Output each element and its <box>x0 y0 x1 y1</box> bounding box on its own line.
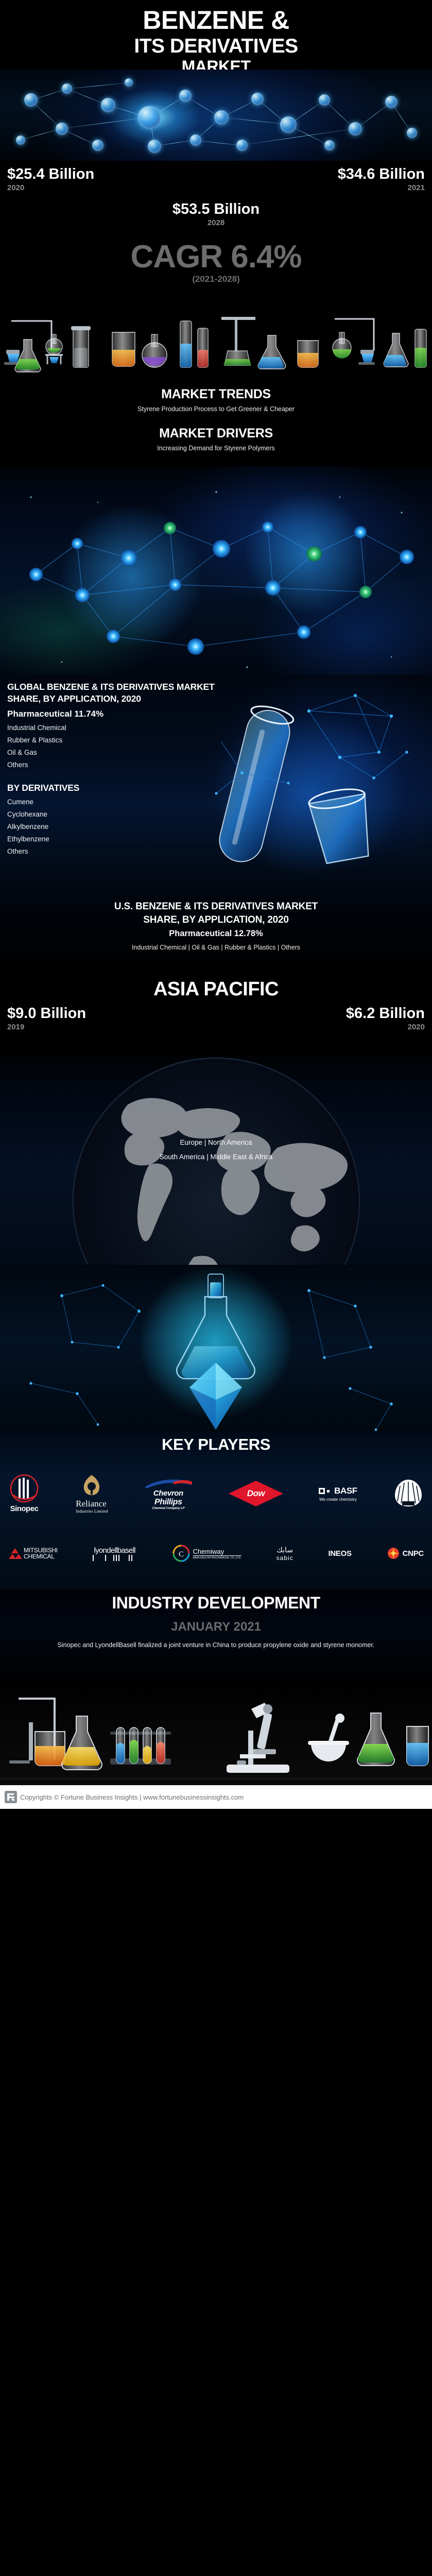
logo-basf-label: BASF <box>334 1486 357 1496</box>
logo-dow[interactable]: Dow <box>229 1481 283 1506</box>
molecule-atom <box>56 123 68 135</box>
lab-glassware-illustration <box>0 296 432 386</box>
title-line-1: BENZENE & <box>0 0 432 33</box>
industry-development-heading: INDUSTRY DEVELOPMENT <box>0 1589 432 1613</box>
molecule-atom <box>280 116 297 133</box>
global-app-2: Oil & Gas <box>7 749 229 756</box>
chemiway-mark-icon: C <box>172 1544 191 1563</box>
dow-diamond-icon: Dow <box>229 1481 283 1506</box>
title-line-3: MARKET <box>0 56 432 70</box>
logo-chemiway-sub: MARUZEN PETROCHEMICAL CO.,LTD. <box>193 1555 241 1560</box>
molecule-atom <box>148 140 161 153</box>
trends-and-drivers-section: MARKET TRENDS Styrene Production Process… <box>0 384 432 471</box>
stat-2021-year: 2021 <box>338 183 425 192</box>
cagr-period: (2021-2028) <box>0 274 432 284</box>
chevron-swoosh-icon <box>144 1478 193 1489</box>
svg-text:C: C <box>179 1550 184 1558</box>
stat-2028-value: $53.5 Billion <box>0 201 432 218</box>
market-drivers-text: Increasing Demand for Styrene Polymers <box>0 445 432 452</box>
cagr-headline: CAGR 6.4% <box>0 241 432 273</box>
molecule-atom <box>125 78 133 87</box>
derivative-3: Ethylbenzene <box>7 835 229 843</box>
hero-molecule-image <box>0 68 432 161</box>
molecule-atom <box>407 128 417 138</box>
molecule-atom <box>214 110 229 125</box>
logo-sabic[interactable]: سابك sabic <box>277 1546 293 1562</box>
stat-2020-year: 2020 <box>7 183 94 192</box>
logo-sinopec[interactable]: Sinopec <box>8 1475 40 1513</box>
molecule-atom <box>179 90 192 102</box>
stat-2021-value: $34.6 Billion <box>338 166 425 183</box>
logo-sinopec-label: Sinopec <box>10 1504 39 1513</box>
logo-cnpc[interactable]: CNPC <box>387 1547 424 1560</box>
molecule-atom <box>138 106 161 129</box>
derivative-2: Alkylbenzene <box>7 823 229 831</box>
logo-mitsubishi-name2: CHEMICAL <box>24 1553 58 1560</box>
shell-pecten-icon <box>393 1479 424 1509</box>
industry-development-description: Sinopec and LyondellBasell finalized a j… <box>0 1640 432 1650</box>
logo-shell[interactable] <box>393 1479 424 1509</box>
logo-chevron-sub: Chemical Company LP <box>152 1507 184 1510</box>
basf-squares-icon <box>319 1487 332 1495</box>
molecule-atom <box>24 93 38 107</box>
logo-basf-sub: We create chemistry <box>319 1497 357 1502</box>
molecule-illustration <box>0 68 432 161</box>
lab-footer-svg <box>0 1682 432 1788</box>
infographic-page: BENZENE & ITS DERIVATIVES MARKET $25.4 B… <box>0 0 432 2576</box>
industry-development-date: JANUARY 2021 <box>0 1620 432 1634</box>
global-share-title-line1: GLOBAL BENZENE & ITS DERIVATIVES MARKET <box>7 681 229 693</box>
global-share-title-line2: SHARE, BY APPLICATION, 2020 <box>7 693 229 705</box>
market-trends-heading: MARKET TRENDS <box>0 384 432 402</box>
apac-stat-2019: $9.0 Billion 2019 <box>7 1005 86 1031</box>
network-svg <box>0 466 432 677</box>
reliance-mark-icon <box>80 1474 103 1499</box>
logo-chevron-phillips[interactable]: Chevron Phillips Chemical Company LP <box>144 1478 193 1510</box>
regions-line-2: South America | Middle East & Africa <box>0 1153 432 1161</box>
molecule-atom <box>190 134 201 146</box>
global-app-1: Rubber & Plastics <box>7 736 229 744</box>
by-derivatives-heading: BY DERIVATIVES <box>7 782 229 794</box>
molecule-bond <box>242 128 355 145</box>
global-market-share-section: GLOBAL BENZENE & ITS DERIVATIVES MARKET … <box>0 675 432 891</box>
key-players-heading: KEY PLAYERS <box>0 1432 432 1454</box>
stat-2028: $53.5 Billion 2028 <box>0 201 432 227</box>
apac-2019-value: $9.0 Billion <box>7 1005 86 1022</box>
molecule-atom <box>101 98 115 112</box>
logo-cnpc-label: CNPC <box>403 1549 424 1558</box>
mitsubishi-diamonds-icon <box>8 1547 22 1560</box>
globe-graphic <box>72 1057 360 1267</box>
logo-lyondellbasell-label: lyondellbasell <box>94 1546 135 1555</box>
global-share-text-block: GLOBAL BENZENE & ITS DERIVATIVES MARKET … <box>7 681 229 855</box>
stat-2020-value: $25.4 Billion <box>7 166 94 183</box>
logo-reliance-name: Reliance <box>76 1499 106 1509</box>
apac-2019-year: 2019 <box>7 1023 86 1031</box>
stat-2028-year: 2028 <box>0 218 432 227</box>
molecule-atom <box>236 140 248 151</box>
logo-phillips-name: Phillips <box>154 1498 182 1507</box>
logo-basf[interactable]: BASF We create chemistry <box>319 1486 357 1502</box>
molecular-network-banner <box>0 466 432 677</box>
us-share-applications: Industrial Chemical | Oil & Gas | Rubber… <box>0 944 432 951</box>
molecule-bond <box>62 117 149 129</box>
derivative-4: Others <box>7 848 229 855</box>
logo-lyondellbasell[interactable]: lyondellbasell <box>93 1546 137 1561</box>
molecule-atom <box>62 83 72 94</box>
molecule-bond <box>67 82 129 89</box>
logo-ineos-label: INEOS <box>329 1549 352 1558</box>
us-share-lead: Pharmaceutical 12.78% <box>0 929 432 939</box>
logo-sabic-label: sabic <box>277 1554 293 1562</box>
key-players-row-1: Sinopec Reliance Industries Limited <box>0 1471 432 1516</box>
us-share-title-line2: SHARE, BY APPLICATION, 2020 <box>0 913 432 927</box>
footer-copyright-text: Copyrights © Fortune Business Insights |… <box>20 1793 244 1801</box>
logo-reliance[interactable]: Reliance Industries Limited <box>76 1474 108 1514</box>
crystal-flask-illustration <box>0 1265 432 1435</box>
market-trends-text: Styrene Production Process to Get Greene… <box>0 405 432 413</box>
fbi-mark-icon <box>5 1791 17 1803</box>
molecule-atom <box>251 93 264 105</box>
globe-section: Europe | North America South America | M… <box>0 1046 432 1267</box>
key-players-row-2: MITSUBISHI CHEMICAL lyondellbasell <box>0 1536 432 1570</box>
industry-development-section: INDUSTRY DEVELOPMENT JANUARY 2021 Sinope… <box>0 1589 432 1685</box>
molecule-atom <box>319 94 330 106</box>
logo-sabic-arabic: سابك <box>277 1546 293 1554</box>
logo-mitsubishi-chemical[interactable]: MITSUBISHI CHEMICAL <box>8 1547 58 1560</box>
regions-line-1: Europe | North America <box>0 1139 432 1146</box>
market-drivers-heading: MARKET DRIVERS <box>0 413 432 441</box>
lab-footer-illustration <box>0 1682 432 1788</box>
logo-ineos[interactable]: INEOS <box>329 1549 352 1558</box>
apac-stat-2020: $6.2 Billion 2020 <box>346 1005 425 1031</box>
molecule-atom <box>16 135 25 145</box>
derivative-1: Cyclohexane <box>7 810 229 818</box>
molecule-atom <box>349 122 362 135</box>
molecule-atom <box>324 140 335 150</box>
cnpc-sun-icon <box>387 1547 400 1560</box>
apac-2020-year: 2020 <box>346 1023 425 1031</box>
global-share-lead: Pharmaceutical 11.74% <box>7 709 229 719</box>
logo-chemiway-name: Chemiway <box>193 1548 241 1555</box>
logo-chevron-name: Chevron <box>153 1489 183 1498</box>
logo-dow-label: Dow <box>229 1481 283 1506</box>
molecule-atom <box>385 96 398 108</box>
molecule-bond <box>196 140 242 146</box>
fortune-business-insights-logo-icon <box>5 1791 17 1803</box>
title-section: BENZENE & ITS DERIVATIVES MARKET <box>0 0 432 70</box>
key-players-section: KEY PLAYERS Sinopec Relia <box>0 1432 432 1592</box>
logo-chemiway[interactable]: C Chemiway MARUZEN PETROCHEMICAL CO.,LTD… <box>172 1544 241 1563</box>
logo-reliance-sub: Industries Limited <box>76 1509 108 1514</box>
molecule-bond <box>221 117 288 125</box>
footer-bar: Copyrights © Fortune Business Insights |… <box>0 1785 432 1809</box>
logo-basf-name: BASF <box>334 1486 357 1496</box>
global-app-0: Industrial Chemical <box>7 724 229 732</box>
molecule-atom <box>92 140 103 151</box>
stat-2020: $25.4 Billion 2020 <box>7 166 94 192</box>
title-line-2: ITS DERIVATIVES <box>0 33 432 56</box>
asia-pacific-section: ASIA PACIFIC $9.0 Billion 2019 $6.2 Bill… <box>0 971 432 1048</box>
stat-2021: $34.6 Billion 2021 <box>338 166 425 192</box>
apac-2020-value: $6.2 Billion <box>346 1005 425 1022</box>
logo-reliance-label: Reliance Industries Limited <box>76 1499 108 1514</box>
lyondellbasell-bars-icon <box>93 1555 137 1561</box>
us-share-title-line1: U.S. BENZENE & ITS DERIVATIVES MARKET <box>0 889 432 913</box>
apac-title: ASIA PACIFIC <box>0 971 432 1001</box>
glassware-svg <box>0 296 432 386</box>
globe-continents-svg <box>72 1057 360 1267</box>
global-app-3: Others <box>7 761 229 769</box>
crystal-flask-svg <box>0 1265 432 1435</box>
sinopec-mark-icon <box>8 1475 40 1504</box>
derivative-0: Cumene <box>7 798 229 806</box>
us-market-share-section: U.S. BENZENE & ITS DERIVATIVES MARKET SH… <box>0 889 432 974</box>
